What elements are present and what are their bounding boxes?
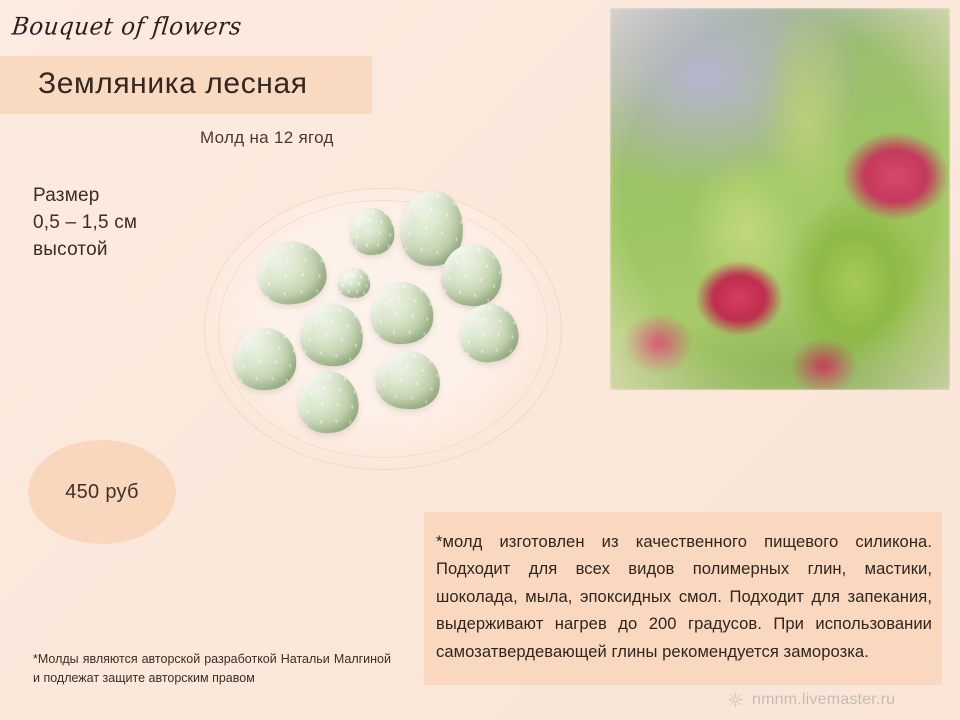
slide-canvas: Bouquet of flowers Земляника лесная Молд…	[0, 0, 960, 720]
size-info: Размер 0,5 – 1,5 см высотой	[33, 182, 137, 263]
page-title: Земляника лесная	[38, 50, 378, 118]
description-text: *молд изготовлен из качественного пищево…	[436, 528, 932, 665]
size-info-line-1: Размер	[33, 182, 137, 209]
berry-cavity	[298, 301, 366, 369]
size-info-line-3: высотой	[33, 236, 137, 263]
watermark-text: nmnm.livemaster.ru	[752, 691, 895, 709]
product-image	[198, 186, 570, 474]
berry-cavity	[438, 240, 506, 310]
strawberry-photo	[610, 8, 950, 390]
berry-cavity	[253, 237, 331, 310]
berry-cavity	[456, 300, 522, 366]
berry-cavity	[294, 368, 361, 437]
price-value: 450 руб	[28, 440, 176, 544]
berry-cavity	[374, 348, 443, 411]
berry-cavity	[232, 326, 297, 391]
subtitle: Молд на 12 ягод	[200, 128, 334, 148]
strawberry-photo-vignette	[610, 8, 950, 390]
flower-icon	[726, 690, 745, 709]
berry-cavity	[338, 268, 370, 298]
berry-cavity	[369, 280, 435, 346]
watermark: nmnm.livemaster.ru	[726, 690, 895, 709]
copyright-note: *Молды являются авторской разработкой На…	[33, 650, 391, 688]
berry-cavity	[348, 206, 397, 257]
brand-logo: Bouquet of flowers	[11, 13, 244, 40]
size-info-line-2: 0,5 – 1,5 см	[33, 209, 137, 236]
